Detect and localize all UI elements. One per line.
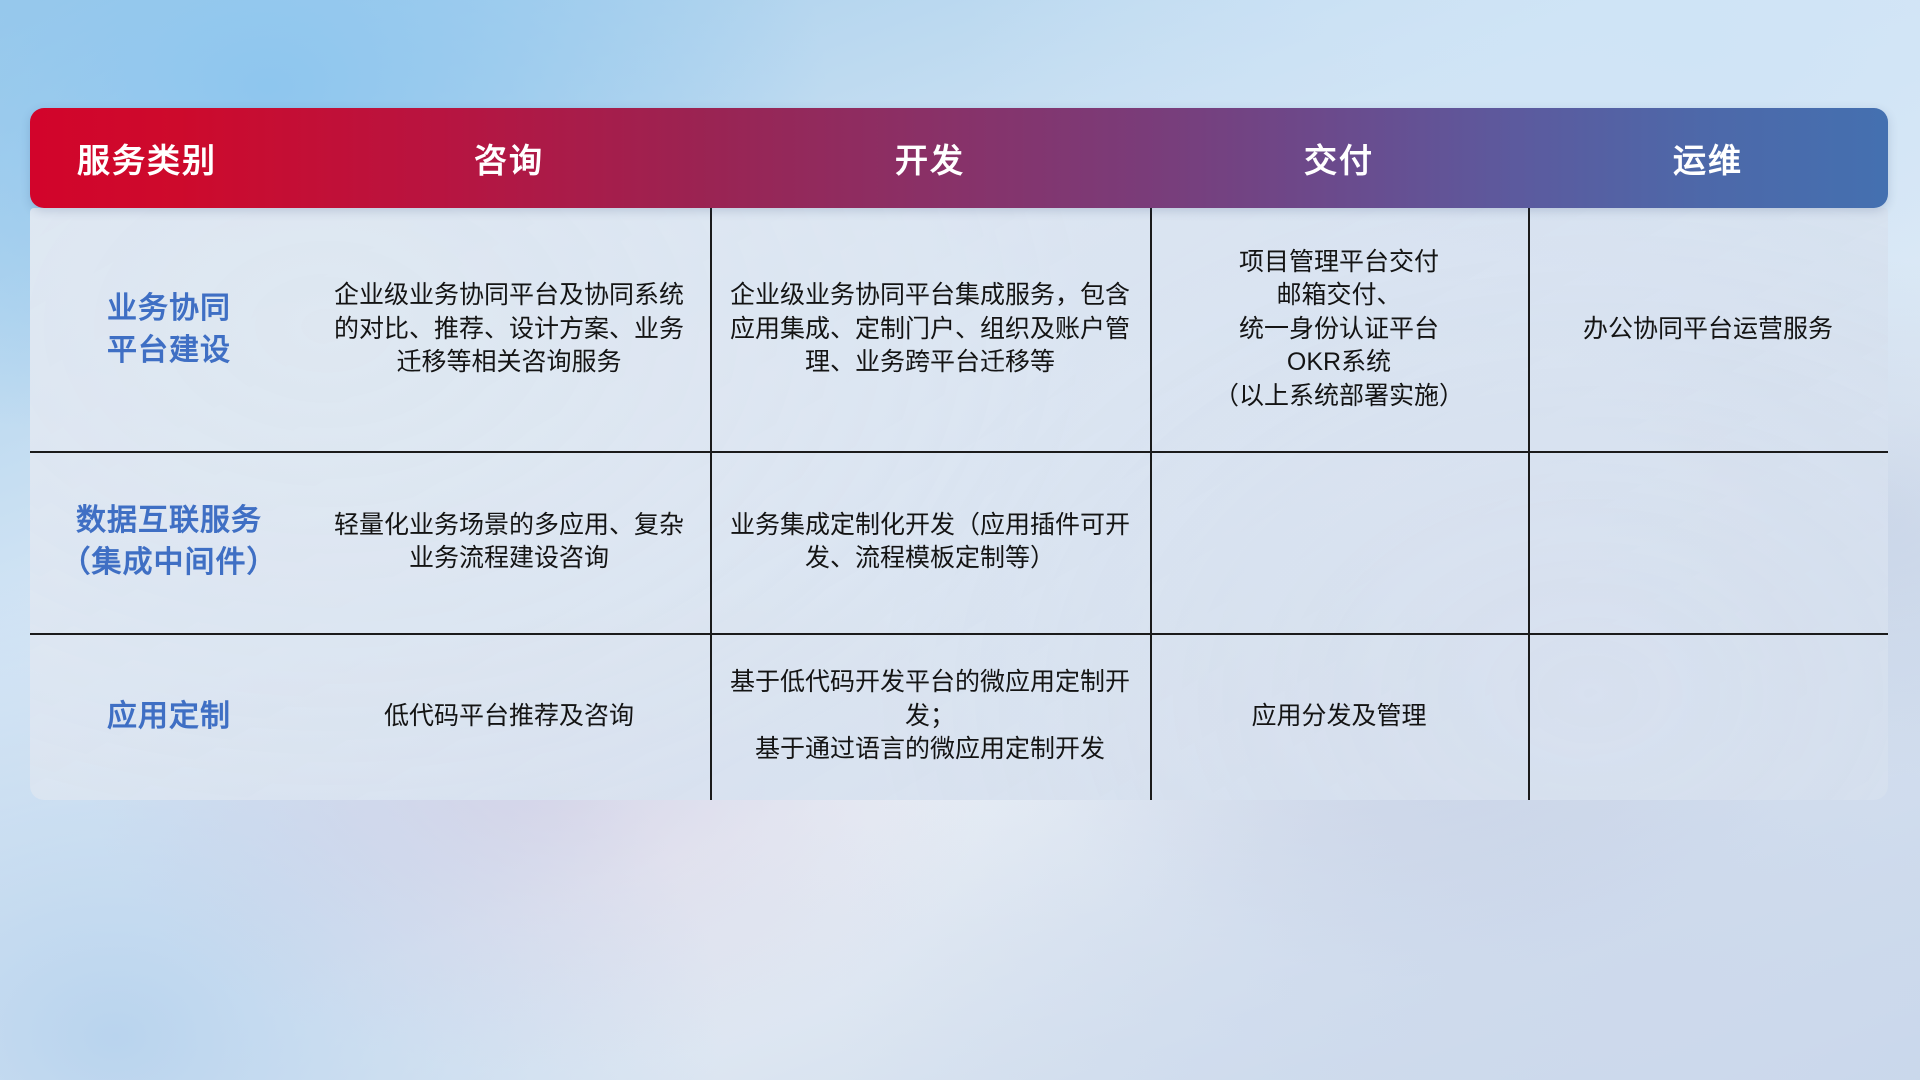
service-matrix-table: 服务类别 咨询 开发 交付 运维 业务协同平台建设 企业级业务协同平台及协同系统…	[30, 108, 1888, 800]
cell-consulting: 低代码平台推荐及咨询	[308, 633, 710, 800]
cell-development: 业务集成定制化开发（应用插件可开发、流程模板定制等）	[710, 451, 1150, 633]
cell-development: 基于低代码开发平台的微应用定制开发；基于通过语言的微应用定制开发	[710, 633, 1150, 800]
cell-operations	[1528, 633, 1888, 800]
row-label: 业务协同平台建设	[30, 208, 308, 451]
row-label: 数据互联服务（集成中间件）	[30, 451, 308, 633]
cell-delivery: 应用分发及管理	[1150, 633, 1528, 800]
column-header-operations: 运维	[1528, 134, 1888, 182]
table-header-row: 服务类别 咨询 开发 交付 运维	[30, 108, 1888, 208]
table-row: 数据互联服务（集成中间件） 轻量化业务场景的多应用、复杂业务流程建设咨询 业务集…	[30, 451, 1888, 633]
column-header-delivery: 交付	[1150, 134, 1528, 182]
column-header-category: 服务类别	[30, 134, 308, 182]
column-header-consulting: 咨询	[308, 134, 710, 182]
cell-delivery: 项目管理平台交付邮箱交付、统一身份认证平台OKR系统（以上系统部署实施）	[1150, 208, 1528, 451]
table-row: 应用定制 低代码平台推荐及咨询 基于低代码开发平台的微应用定制开发；基于通过语言…	[30, 633, 1888, 800]
cell-development: 企业级业务协同平台集成服务，包含应用集成、定制门户、组织及账户管理、业务跨平台迁…	[710, 208, 1150, 451]
column-header-development: 开发	[710, 134, 1150, 182]
cell-operations: 办公协同平台运营服务	[1528, 208, 1888, 451]
table-row: 业务协同平台建设 企业级业务协同平台及协同系统的对比、推荐、设计方案、业务迁移等…	[30, 208, 1888, 451]
cell-consulting: 轻量化业务场景的多应用、复杂业务流程建设咨询	[308, 451, 710, 633]
table-rows: 业务协同平台建设 企业级业务协同平台及协同系统的对比、推荐、设计方案、业务迁移等…	[30, 208, 1888, 800]
cell-delivery	[1150, 451, 1528, 633]
cell-operations	[1528, 451, 1888, 633]
cell-consulting: 企业级业务协同平台及协同系统的对比、推荐、设计方案、业务迁移等相关咨询服务	[308, 208, 710, 451]
row-label: 应用定制	[30, 633, 308, 800]
